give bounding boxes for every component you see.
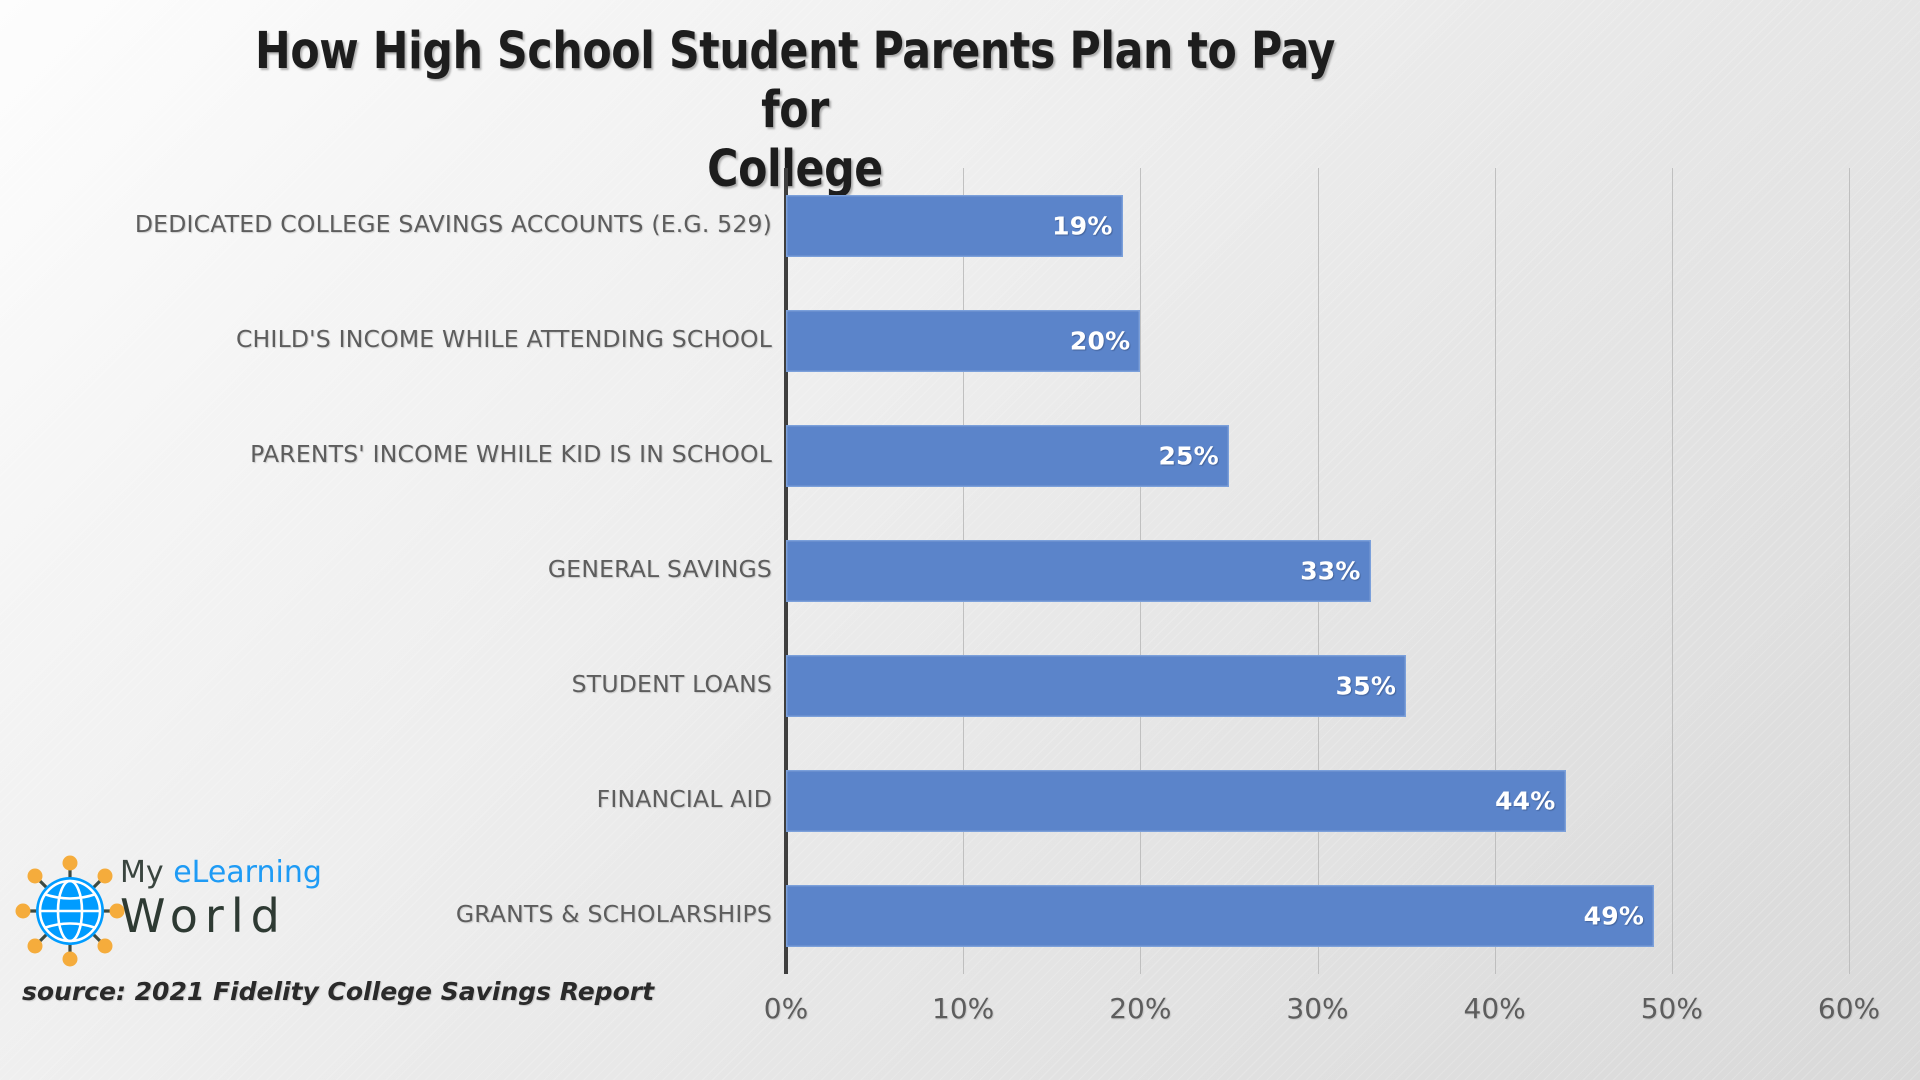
globe-icon <box>10 852 130 970</box>
logo-line-one: My eLearning <box>120 856 370 890</box>
category-label: PARENTS' INCOME WHILE KID IS IN SCHOOL <box>0 440 772 468</box>
bar-value-label: 19% <box>1052 211 1112 240</box>
bar-value-label: 44% <box>1495 787 1555 816</box>
gridline-60% <box>1849 168 1850 974</box>
source-note: source: 2021 Fidelity College Savings Re… <box>22 977 654 1006</box>
bar: 20% <box>786 310 1140 372</box>
logo-word-my: My <box>120 855 173 890</box>
bar-value-label: 49% <box>1584 902 1644 931</box>
logo-word-world: World <box>120 890 370 942</box>
plot-area: 19%20%25%33%35%44%49% <box>786 168 1849 974</box>
brand-logo[interactable]: My eLearning World <box>10 852 370 970</box>
bar-value-label: 20% <box>1070 326 1130 355</box>
bar: 49% <box>786 885 1654 947</box>
x-tick-60%: 60% <box>1818 992 1880 1025</box>
x-tick-30%: 30% <box>1286 992 1348 1025</box>
bar: 35% <box>786 655 1406 717</box>
x-tick-0%: 0% <box>764 992 808 1025</box>
category-label: FINANCIAL AID <box>0 785 772 813</box>
bar: 33% <box>786 540 1371 602</box>
bar: 19% <box>786 195 1123 257</box>
bar-value-label: 35% <box>1336 672 1396 701</box>
bar: 25% <box>786 425 1229 487</box>
category-label: STUDENT LOANS <box>0 670 772 698</box>
x-tick-50%: 50% <box>1641 992 1703 1025</box>
category-label: GENERAL SAVINGS <box>0 555 772 583</box>
logo-wordmark: My eLearning World <box>120 856 370 942</box>
bar-value-label: 25% <box>1158 441 1218 470</box>
bar: 44% <box>786 770 1566 832</box>
x-tick-10%: 10% <box>932 992 994 1025</box>
bar-value-label: 33% <box>1300 557 1360 586</box>
category-label: CHILD'S INCOME WHILE ATTENDING SCHOOL <box>0 325 772 353</box>
x-tick-40%: 40% <box>1464 992 1526 1025</box>
logo-word-elearning: eLearning <box>173 855 322 890</box>
x-tick-20%: 20% <box>1109 992 1171 1025</box>
category-label: DEDICATED COLLEGE SAVINGS ACCOUNTS (E.G.… <box>0 210 772 238</box>
chart-canvas: How High School Student Parents Plan to … <box>0 0 1920 1080</box>
gridline-50% <box>1672 168 1673 974</box>
gridline-40% <box>1495 168 1496 974</box>
